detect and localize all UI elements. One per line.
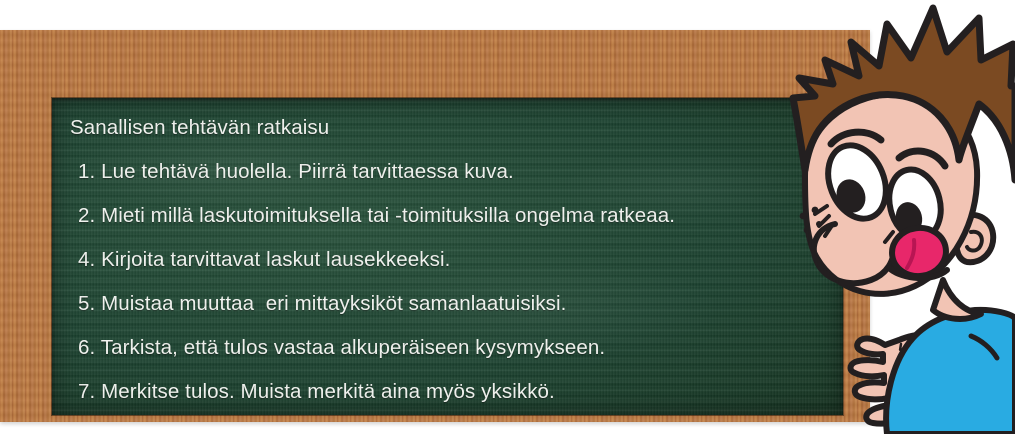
board-title: Sanallisen tehtävän ratkaisu	[70, 106, 833, 150]
boy-neck	[933, 280, 981, 319]
chalkboard-frame: Sanallisen tehtävän ratkaisu 1. Lue teht…	[0, 30, 870, 422]
slide-canvas: Sanallisen tehtävän ratkaisu 1. Lue teht…	[0, 0, 1015, 434]
step-item-4: 4. Kirjoita tarvittavat laskut lausekkee…	[70, 238, 833, 282]
chalkboard-surface: Sanallisen tehtävän ratkaisu 1. Lue teht…	[52, 98, 843, 415]
boy-shirt	[886, 310, 1015, 434]
step-item-1: 1. Lue tehtävä huolella. Piirrä tarvitta…	[70, 150, 833, 194]
step-item-5: 5. Muistaa muuttaa eri mittayksiköt sama…	[70, 282, 833, 326]
chalkboard-text-block: Sanallisen tehtävän ratkaisu 1. Lue teht…	[70, 106, 833, 414]
step-item-2: 2. Mieti millä laskutoimituksella tai -t…	[70, 194, 833, 238]
step-item-6: 6. Tarkista, että tulos vastaa alkuperäi…	[70, 326, 833, 370]
cartoon-boy-illustration	[775, 0, 1015, 434]
step-item-7: 7. Merkitse tulos. Muista merkitä aina m…	[70, 370, 833, 414]
